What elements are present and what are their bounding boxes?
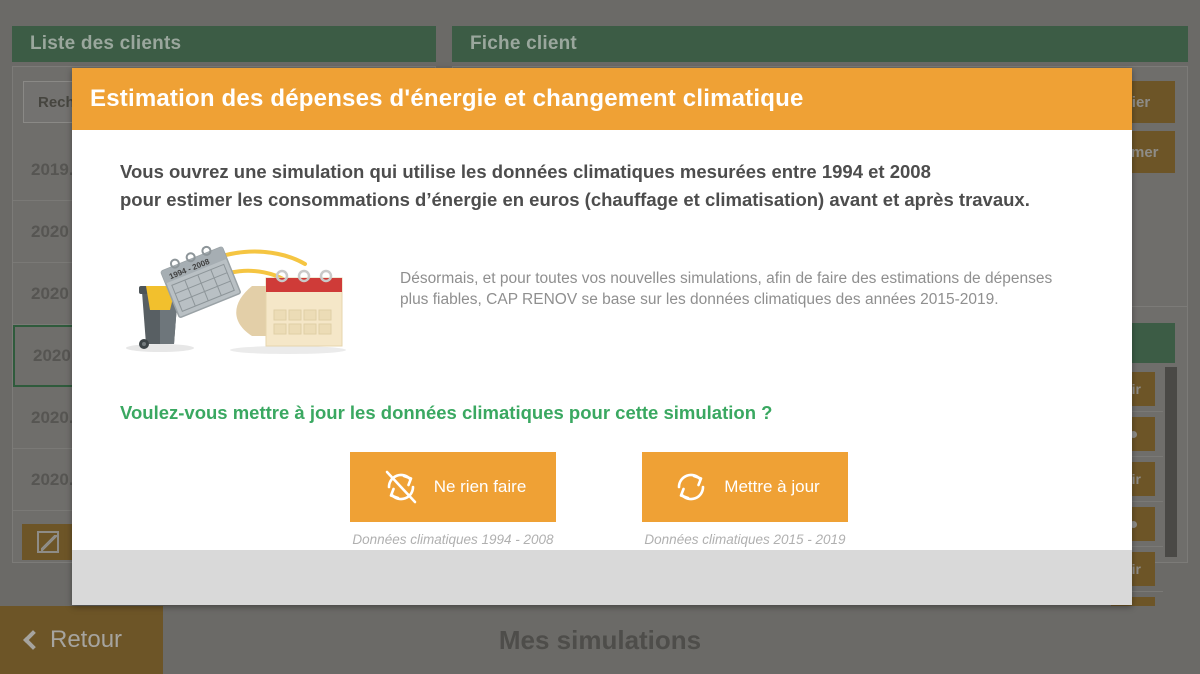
dialog-title: Estimation des dépenses d'énergie et cha… xyxy=(90,85,804,113)
dialog-question: Voulez-vous mettre à jour les données cl… xyxy=(120,402,1092,424)
panel-header-liste-des-clients: Liste des clients xyxy=(12,26,436,62)
bottom-bar: Mes simulations Retour xyxy=(0,606,1200,674)
climate-data-dialog: Estimation des dépenses d'énergie et cha… xyxy=(72,68,1132,605)
intro-line-1: Vous ouvrez une simulation qui utilise l… xyxy=(120,158,1092,186)
intro-line-2: pour estimer les consommations d’énergie… xyxy=(120,186,1092,214)
sync-icon xyxy=(670,466,712,508)
notice-row: 1994 - 2008 xyxy=(120,240,1092,358)
ne-rien-faire-caption: Données climatiques 1994 - 2008 xyxy=(350,532,556,547)
page-title: Mes simulations xyxy=(0,606,1200,674)
dialog-body: Vous ouvrez une simulation qui utilise l… xyxy=(72,130,1132,550)
mettre-a-jour-caption: Données climatiques 2015 - 2019 xyxy=(642,532,848,547)
notice-line-2: plus fiables, CAP RENOV se base sur les … xyxy=(400,289,1052,310)
back-button-label: Retour xyxy=(50,626,122,654)
calendar-replacement-illustration: 1994 - 2008 xyxy=(120,240,352,358)
scrollbar-thumb[interactable] xyxy=(1165,367,1177,557)
choice-update: Mettre à jour Données climatiques 2015 -… xyxy=(642,452,848,547)
page-title-label: Mes simulations xyxy=(499,625,701,656)
sync-disabled-icon xyxy=(380,466,422,508)
chevron-left-icon xyxy=(23,630,43,650)
panel-header-fiche-label: Fiche client xyxy=(470,33,577,55)
notice-line-1: Désormais, et pour toutes vos nouvelles … xyxy=(400,268,1052,289)
dialog-header: Estimation des dépenses d'énergie et cha… xyxy=(72,68,1132,130)
mettre-a-jour-label: Mettre à jour xyxy=(724,477,819,497)
mettre-a-jour-button[interactable]: Mettre à jour xyxy=(642,452,848,522)
simulations-scrollbar[interactable] xyxy=(1165,367,1177,546)
panel-header-fiche-client: Fiche client xyxy=(452,26,1188,62)
back-button[interactable]: Retour xyxy=(0,606,163,674)
panel-header-clients-label: Liste des clients xyxy=(30,33,181,55)
dialog-footer xyxy=(72,550,1132,605)
ne-rien-faire-label: Ne rien faire xyxy=(434,477,527,497)
notice-text: Désormais, et pour toutes vos nouvelles … xyxy=(400,268,1052,310)
dialog-choices: Ne rien faire Données climatiques 1994 -… xyxy=(120,452,1092,547)
edit-icon xyxy=(37,531,59,553)
ne-rien-faire-button[interactable]: Ne rien faire xyxy=(350,452,556,522)
edit-button[interactable] xyxy=(22,524,74,560)
choice-do-nothing: Ne rien faire Données climatiques 1994 -… xyxy=(350,452,556,547)
